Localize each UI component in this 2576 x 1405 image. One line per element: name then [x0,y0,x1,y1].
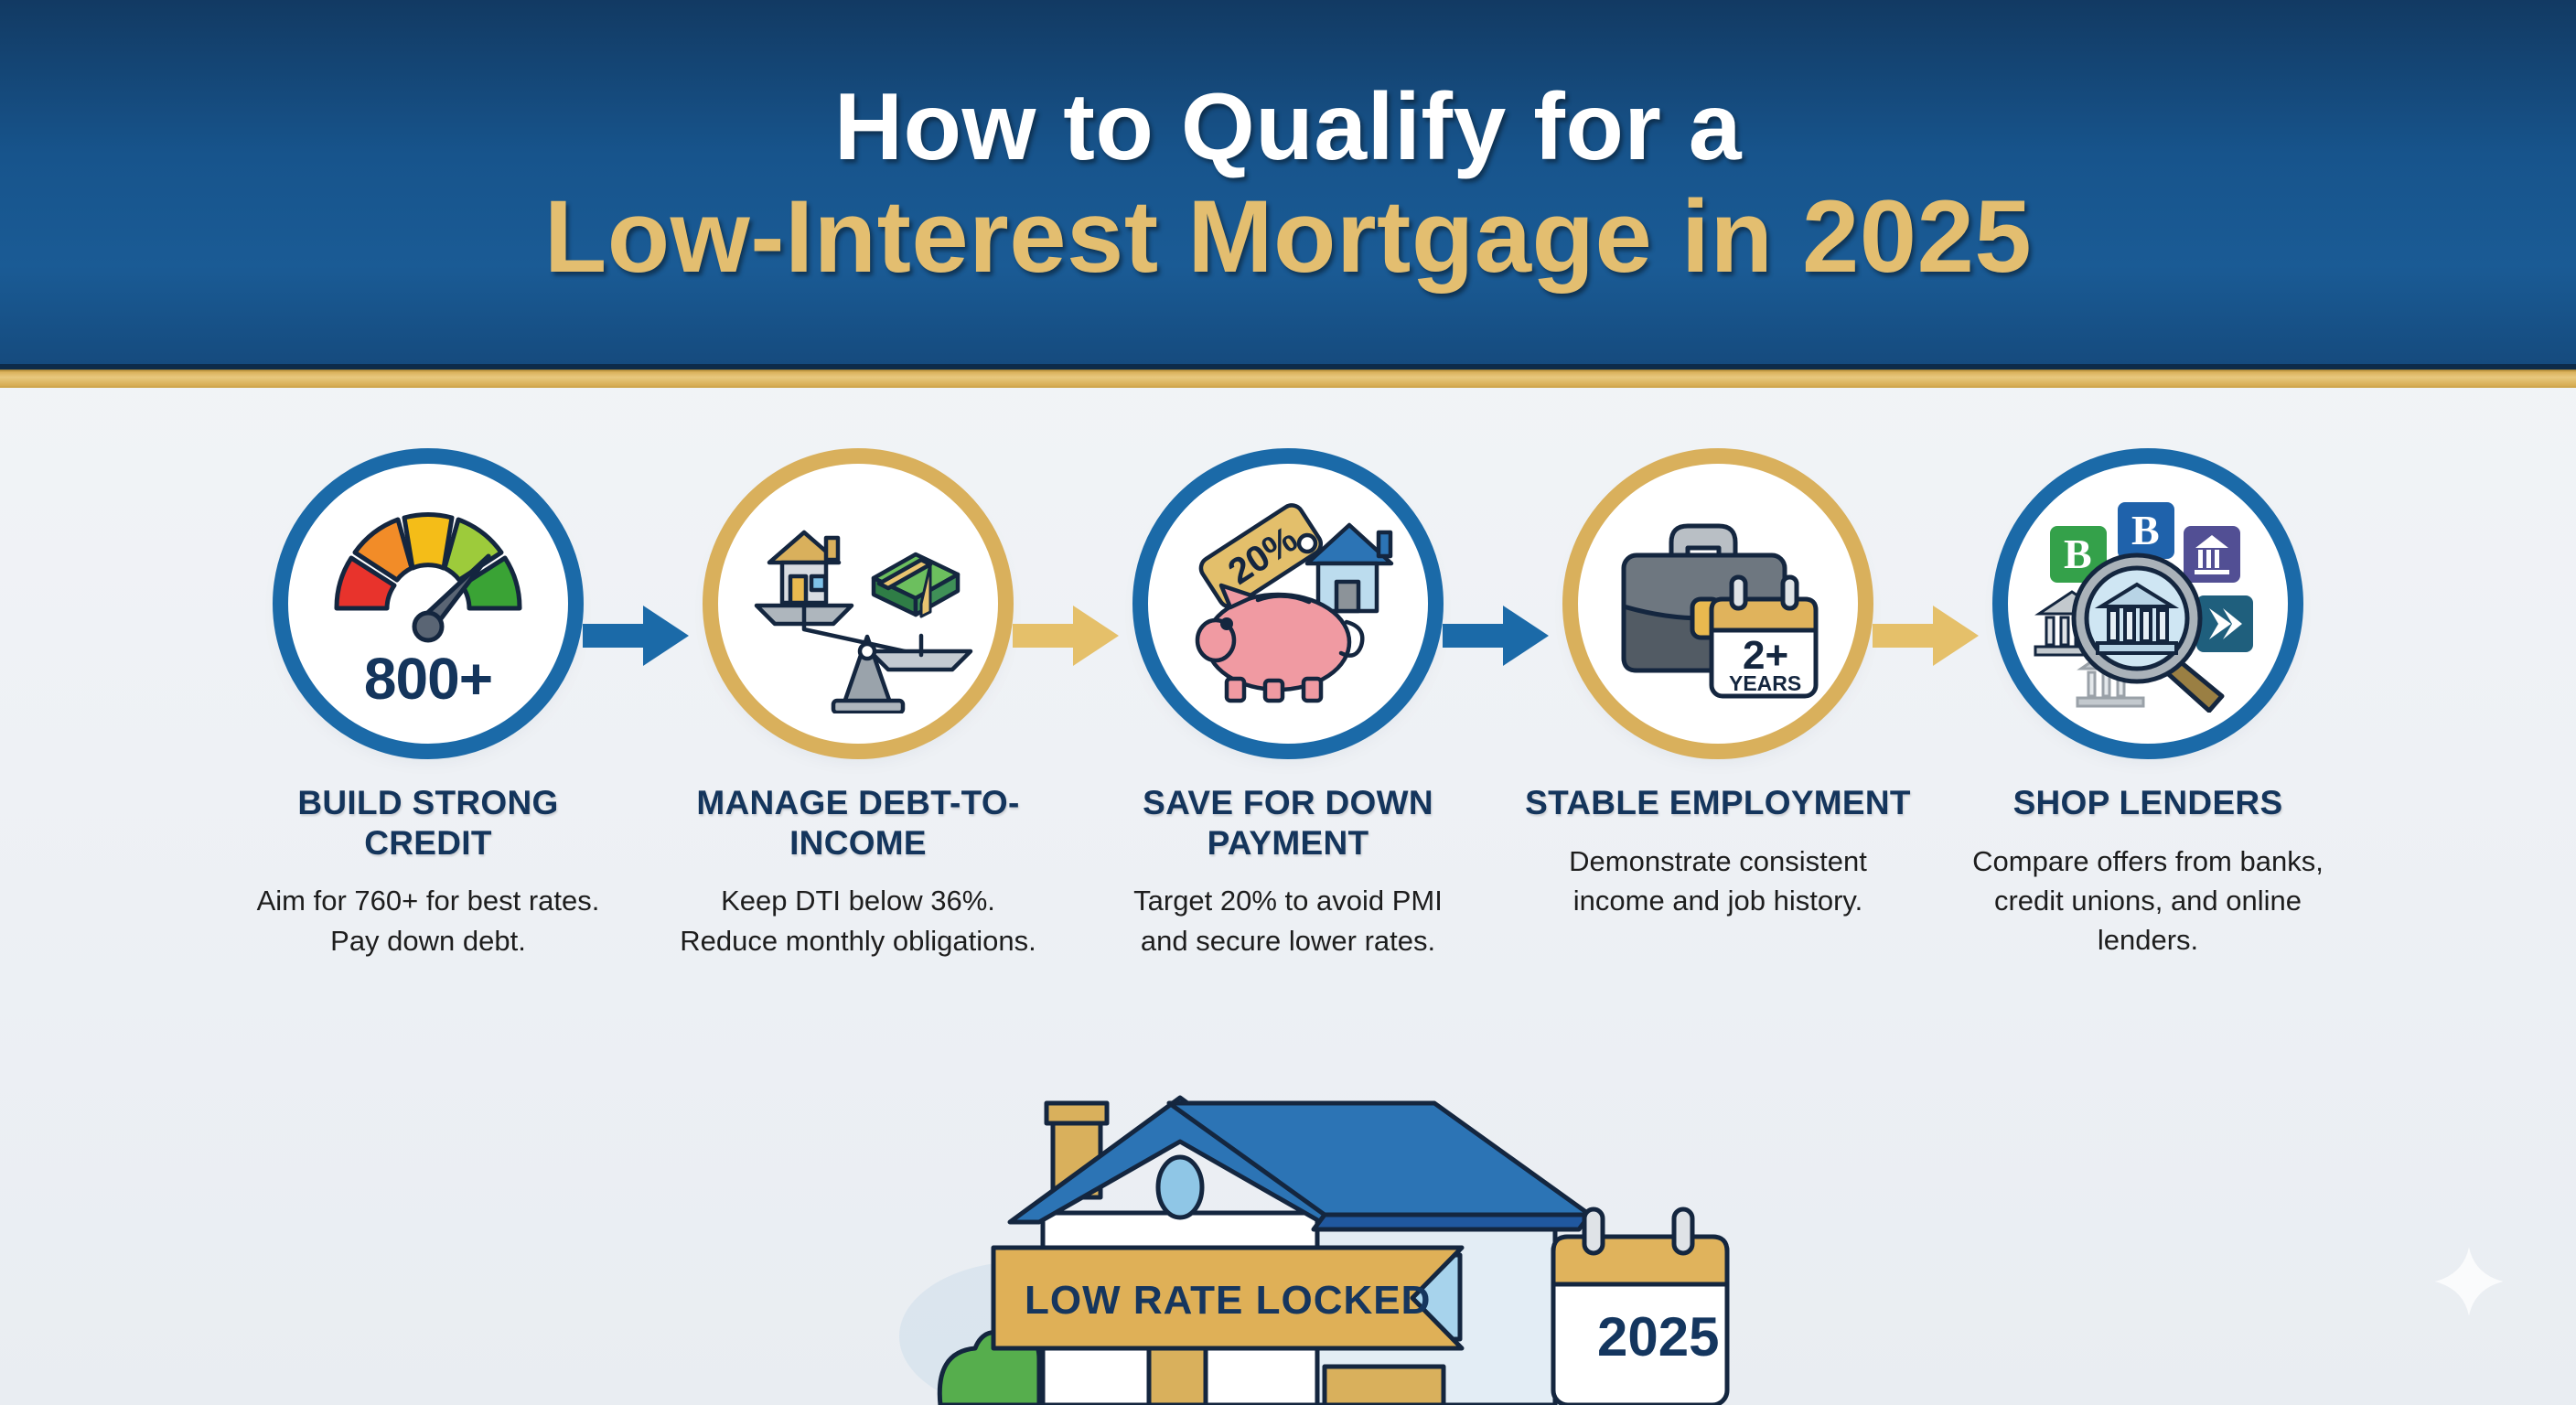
flow-arrow-4-gold [1873,602,1980,670]
bank-logo-blue: B [2118,502,2174,559]
flow-arrow-3-blue [1443,602,1551,670]
steps-row: 800+ BUILD STRONG CREDIT Aim for 760+ fo… [0,388,2576,960]
flow-arrow-2-gold [1013,602,1121,670]
step-4-icon-ring: 2+ YEARS [1562,448,1873,759]
step-title: STABLE EMPLOYMENT [1525,783,1911,823]
piggy-bank-house-icon: 20% [1165,480,1411,727]
page-title-line-1: How to Qualify for a [834,77,1742,177]
briefcase-calendar-icon: 2+ YEARS [1594,480,1841,727]
step-title: SAVE FOR DOWN PAYMENT [1091,783,1485,863]
step-build-strong-credit[interactable]: 800+ BUILD STRONG CREDIT Aim for 760+ fo… [213,448,643,960]
svg-text:B: B [2064,531,2092,577]
rate-locked-banner-label: LOW RATE LOCKED [1025,1278,1431,1323]
gold-divider-rule [0,370,2576,388]
step-description: Demonstrate consistent income and job hi… [1540,842,1896,921]
step-5-icon-ring: B B [1992,448,2303,759]
svg-text:B: B [2131,507,2160,553]
step-description: Aim for 760+ for best rates. Pay down de… [250,881,606,960]
infographic-poster: How to Qualify for a Low-Interest Mortga… [0,0,2576,1405]
flow-arrow-1-blue [583,602,691,670]
step-1-icon-ring: 800+ [273,448,584,759]
balance-scale-house-money-icon [735,480,982,727]
header-banner: How to Qualify for a Low-Interest Mortga… [0,0,2576,370]
step-3-icon-ring: 20% [1132,448,1444,759]
step-shop-lenders[interactable]: B B [1933,448,2363,960]
step-2-icon-ring [703,448,1014,759]
step-stable-employment[interactable]: 2+ YEARS STABLE EMPLOYMENT Demonstrate c… [1503,448,1933,920]
magnifier-bank-logos-icon: B B [2024,480,2271,727]
house-rate-locked-scene: LOW RATE LOCKED 2025 [831,1076,1745,1405]
credit-score-value: 800+ [305,645,552,713]
step-title: BUILD STRONG CREDIT [231,783,625,863]
bank-logo-purple [2184,526,2240,583]
bank-logo-chevron [2196,595,2253,652]
employment-years-unit: YEARS [1729,671,1801,695]
step-description: Keep DTI below 36%. Reduce monthly oblig… [680,881,1036,960]
step-title: MANAGE DEBT-TO-INCOME [661,783,1055,863]
page-title-line-2: Low-Interest Mortgage in 2025 [544,182,2032,293]
step-save-for-down-payment[interactable]: 20% [1073,448,1503,960]
step-description: Compare offers from banks, credit unions… [1970,842,2326,960]
calendar-year-label: 2025 [1597,1306,1719,1367]
sparkle-icon [2433,1246,2505,1317]
step-manage-debt-to-income[interactable]: MANAGE DEBT-TO-INCOME Keep DTI below 36%… [643,448,1073,960]
step-description: Target 20% to avoid PMI and secure lower… [1110,881,1466,960]
step-title: SHOP LENDERS [2013,783,2283,823]
credit-score-gauge-icon: 800+ [305,480,552,727]
